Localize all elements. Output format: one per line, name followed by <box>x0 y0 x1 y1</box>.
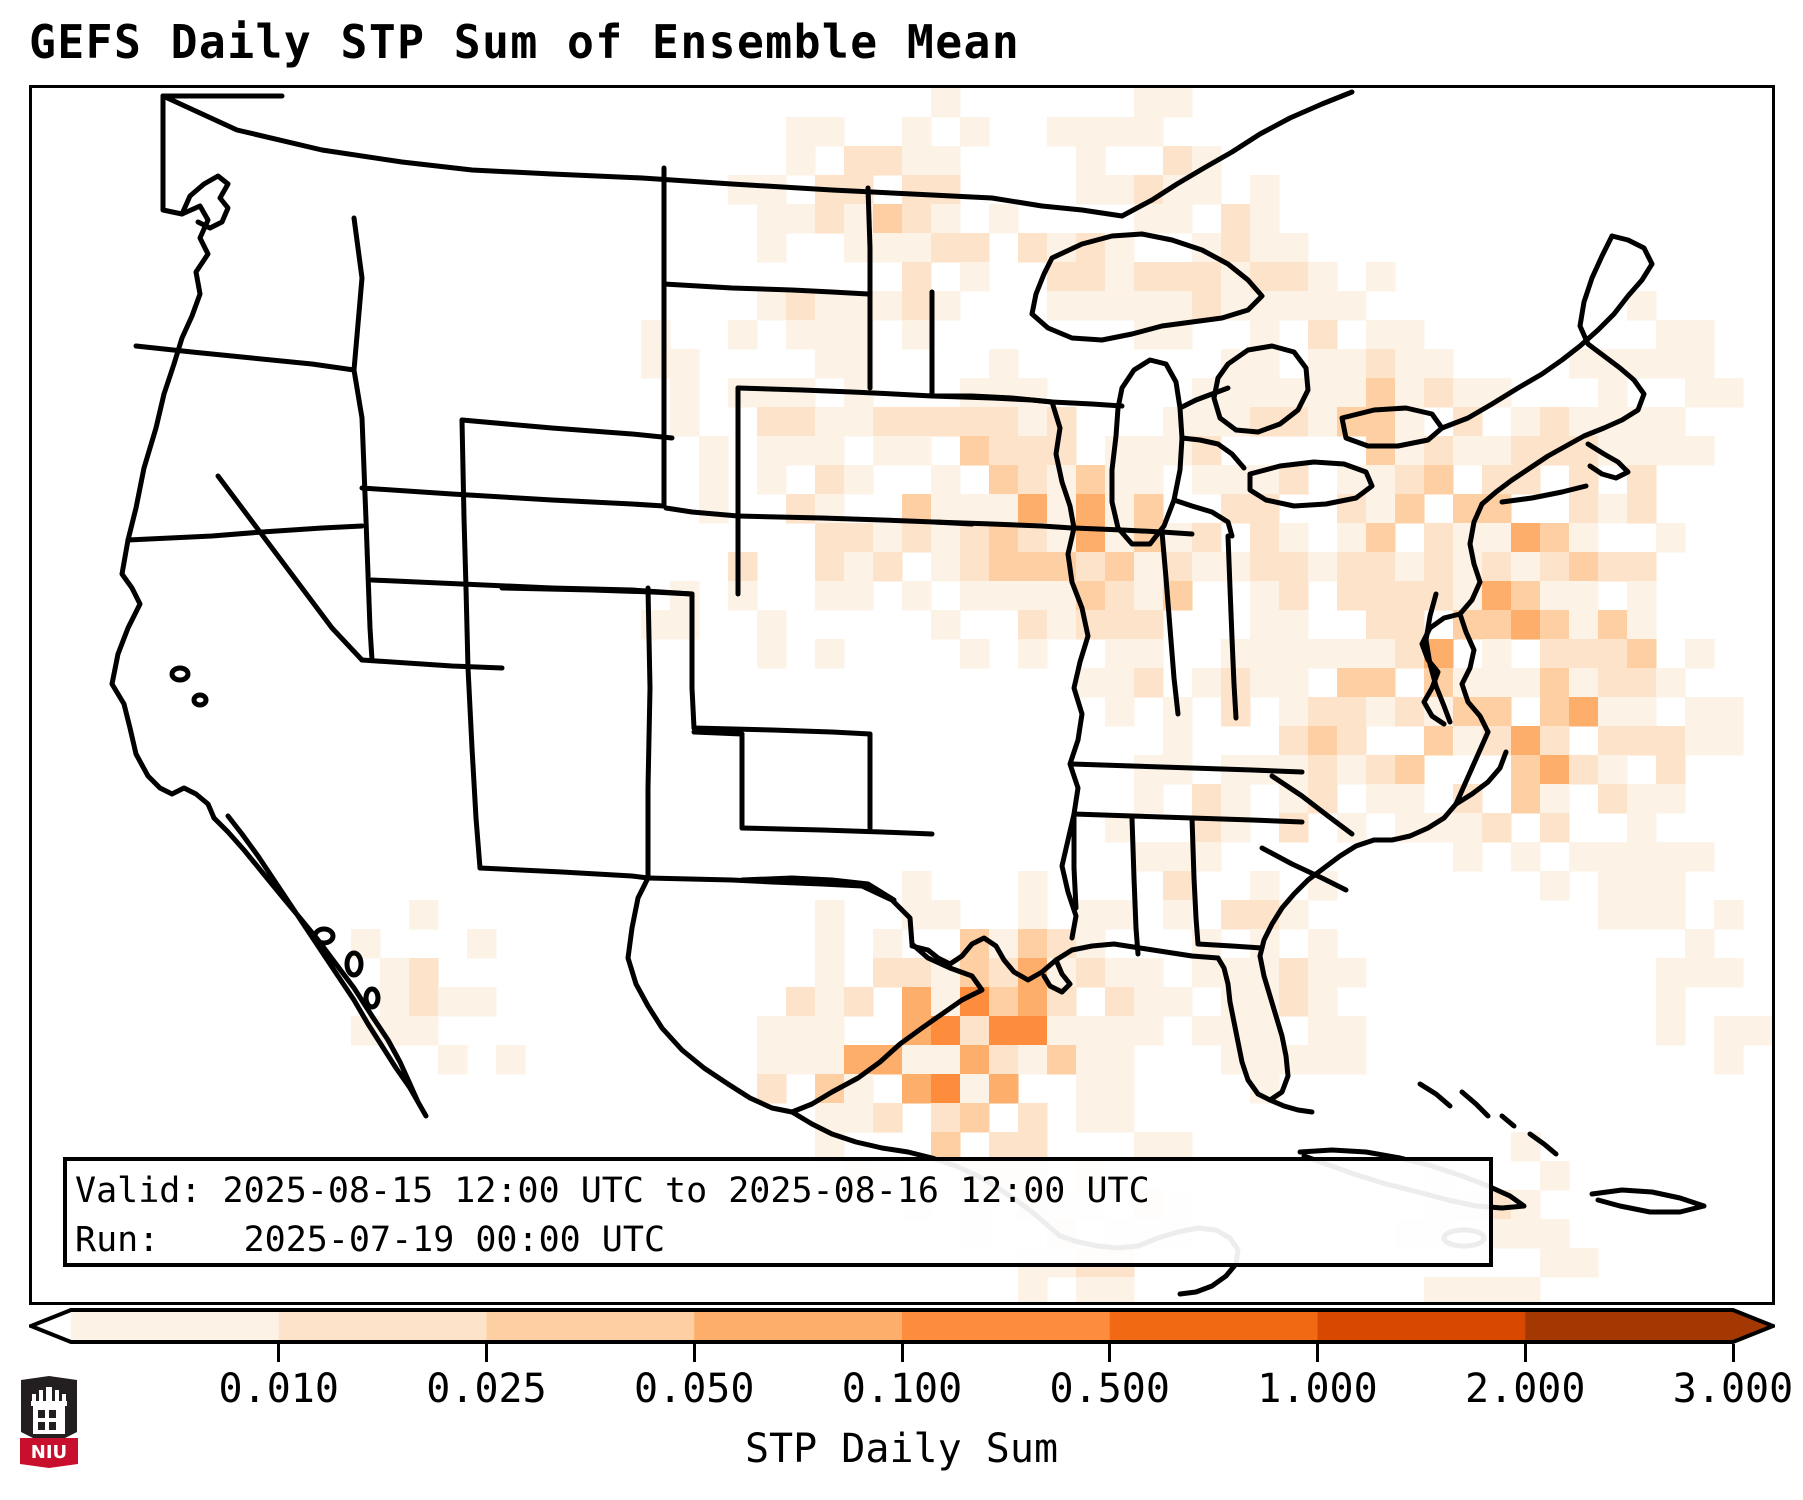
colorbar-axis-label: STP Daily Sum <box>0 1424 1803 1474</box>
colorbar-tick-label: 0.050 <box>634 1366 754 1412</box>
figure-root: GEFS Daily STP Sum of Ensemble Mean <box>0 0 1803 1500</box>
colorbar-tick <box>693 1344 696 1362</box>
colorbar-tick <box>1524 1344 1527 1362</box>
map-canvas <box>32 88 1772 1302</box>
colorbar-tick-label: 0.025 <box>426 1366 546 1412</box>
colorbar-tick-label: 3.000 <box>1673 1366 1793 1412</box>
niu-logo-text: NIU <box>31 1442 67 1463</box>
colorbar-tick-label: 0.100 <box>842 1366 962 1412</box>
colorbar-tick <box>1108 1344 1111 1362</box>
colorbar-tick-label: 1.000 <box>1257 1366 1377 1412</box>
colorbar-gradient <box>29 1308 1775 1344</box>
colorbar-tick-label: 0.500 <box>1050 1366 1170 1412</box>
run-time-line: Run: 2025-07-19 00:00 UTC <box>75 1216 1489 1265</box>
colorbar-tick-label: 2.000 <box>1465 1366 1585 1412</box>
valid-time-line: Valid: 2025-08-15 12:00 UTC to 2025-08-1… <box>75 1167 1489 1216</box>
map-outlines <box>32 88 1772 1302</box>
valid-run-info-box: Valid: 2025-08-15 12:00 UTC to 2025-08-1… <box>63 1157 1493 1267</box>
colorbar-tick-label: 0.010 <box>219 1366 339 1412</box>
colorbar <box>29 1308 1775 1344</box>
colorbar-tick <box>277 1344 280 1362</box>
map-panel <box>29 85 1775 1305</box>
colorbar-tick <box>1316 1344 1319 1362</box>
colorbar-tick <box>901 1344 904 1362</box>
colorbar-tick <box>485 1344 488 1362</box>
colorbar-tick-labels: 0.0100.0250.0500.1000.5001.0002.0003.000 <box>0 1366 1803 1416</box>
colorbar-ticks <box>29 1344 1775 1364</box>
niu-logo: NIU <box>18 1376 80 1468</box>
page-title: GEFS Daily STP Sum of Ensemble Mean <box>29 14 1020 70</box>
colorbar-tick <box>1732 1344 1735 1362</box>
